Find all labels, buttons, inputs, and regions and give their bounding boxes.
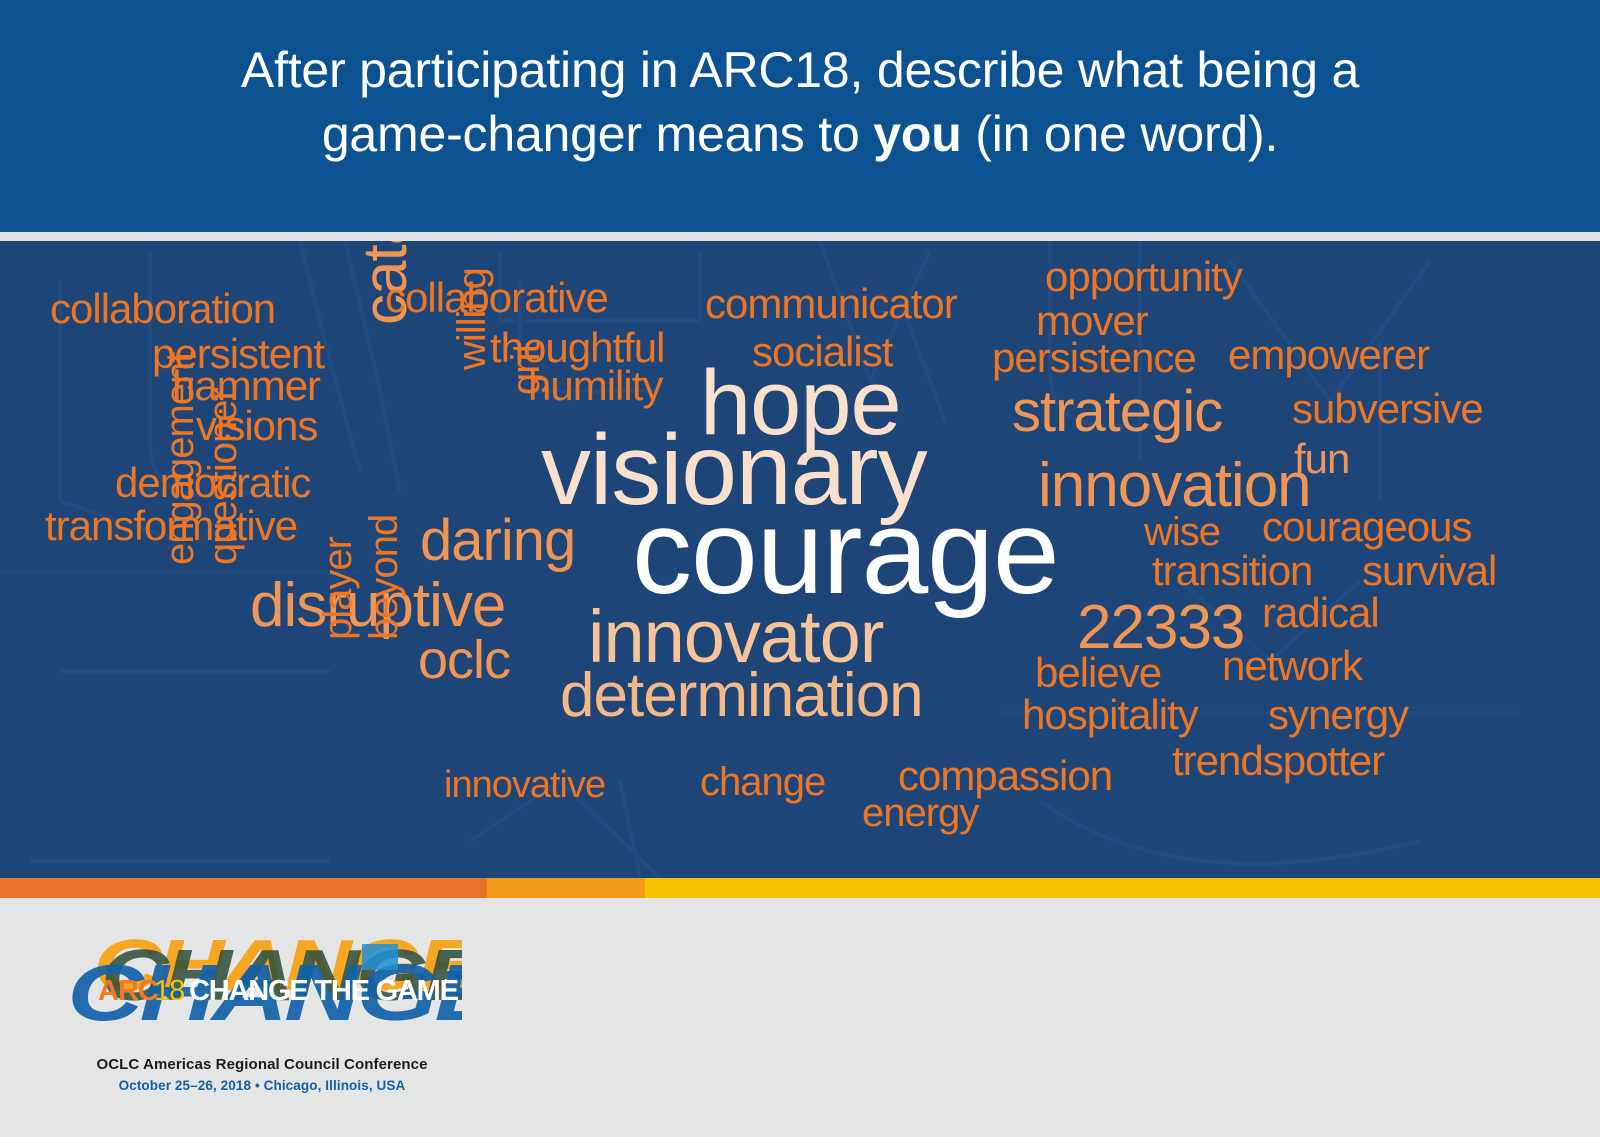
word-cloud-term: questioner [203, 388, 243, 565]
word-cloud-term: persistence [992, 337, 1196, 379]
brand-color-bar [0, 878, 1600, 898]
page-title: After participating in ARC18, describe w… [120, 38, 1480, 166]
word-cloud-term: radical [1262, 592, 1379, 634]
word-cloud-term: beyond [364, 515, 404, 640]
word-cloud-term: survival [1362, 550, 1496, 592]
question-line-2-post: (in one word). [962, 106, 1279, 162]
word-cloud-term: synergy [1268, 694, 1408, 736]
word-cloud-term: engagement [160, 353, 200, 565]
word-cloud-term: network [1222, 645, 1362, 687]
word-cloud-term: innovative [444, 766, 605, 804]
word-cloud-term: humility [528, 365, 662, 407]
word-cloud-term: willing [452, 268, 492, 370]
word-cloud-term: socialist [752, 331, 892, 373]
color-bar-segment-orange [0, 878, 487, 898]
svg-text:18: 18 [154, 975, 184, 1007]
word-cloud-term: daring [420, 512, 575, 570]
color-bar-segment-yellow [645, 878, 1600, 898]
slide-canvas: After participating in ARC18, describe w… [0, 0, 1600, 1137]
word-cloud: couragevisionaryhopeinnovatordeterminati… [0, 241, 1600, 878]
word-cloud-term: determination [560, 665, 923, 727]
question-line-1: After participating in ARC18, describe w… [241, 42, 1359, 98]
header-divider [0, 232, 1600, 241]
word-cloud-term: empowerer [1228, 334, 1429, 376]
word-cloud-term: communicator [705, 283, 957, 325]
word-cloud-term: transition [1152, 550, 1312, 592]
word-cloud-term: grit [506, 343, 546, 395]
word-cloud-term: hospitality [1022, 694, 1198, 736]
word-cloud-term: courageous [1262, 506, 1472, 548]
arc18-conference-logo: CHANGE CHANGE CHANGE ARC 18 CHANGE THE G… [62, 916, 462, 1116]
word-cloud-term: subversive [1292, 388, 1483, 430]
question-header: After participating in ARC18, describe w… [0, 0, 1600, 232]
word-cloud-term: player [318, 537, 358, 640]
svg-text:CHANGE THE GAME: CHANGE THE GAME [189, 975, 459, 1007]
word-cloud-term: collaboration [50, 288, 275, 330]
conference-details: October 25–26, 2018 • Chicago, Illinois,… [62, 1078, 462, 1093]
word-cloud-term: change [700, 762, 825, 802]
word-cloud-term: fun [1294, 438, 1349, 480]
question-line-2-pre: game-changer means to [322, 106, 873, 162]
word-cloud-term: believe [1035, 652, 1161, 694]
word-cloud-term: trendspotter [1172, 740, 1384, 782]
word-cloud-term: strategic [1012, 383, 1222, 441]
word-cloud-term: oclc [418, 633, 510, 687]
footer-bar: CHANGE CHANGE CHANGE ARC 18 CHANGE THE G… [0, 898, 1600, 1137]
word-cloud-term: collaborative [385, 277, 608, 319]
arc18-logo-artwork: CHANGE CHANGE CHANGE ARC 18 CHANGE THE G… [62, 916, 462, 1046]
word-cloud-term: wise [1144, 512, 1220, 552]
question-emphasis: you [873, 106, 961, 162]
conference-name: OCLC Americas Regional Council Conferenc… [62, 1056, 462, 1073]
svg-text:ARC: ARC [98, 975, 159, 1007]
word-cloud-term: opportunity [1045, 256, 1242, 298]
word-cloud-term: energy [862, 793, 978, 833]
color-bar-segment-mid-orange [487, 878, 645, 898]
